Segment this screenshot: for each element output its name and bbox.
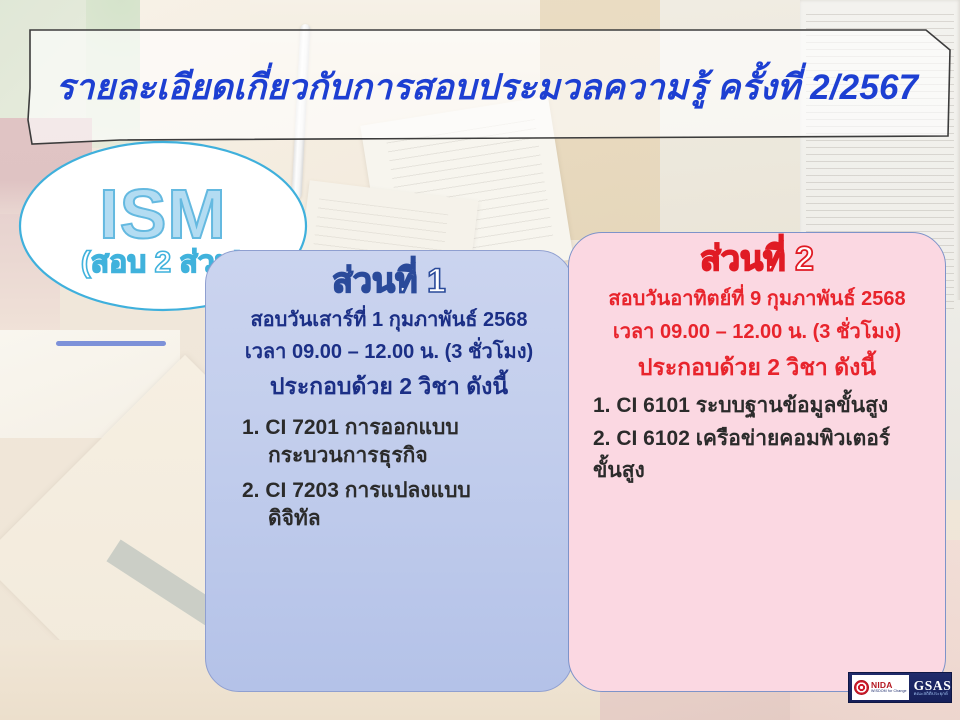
part1-course-1-name-cont: กระบวนการธุรกิจ [242,442,554,470]
nida-tagline: WISDOM for Change [871,690,907,694]
part2-heading: ส่วนที่ 2 [583,241,931,278]
list-item: 2. CI 7203 การแปลงแบบ ดิจิทัล [242,477,554,534]
list-item: ขั้นสูง [593,456,929,486]
list-item: 1. CI 7201 การออกแบบ กระบวนการธุรกิจ [242,414,554,471]
nida-seal-icon [854,680,869,695]
gsas-text-group: GSAS คณะสถิติประยุกต์ [913,679,952,697]
part2-panel: ส่วนที่ 2 สอบวันอาทิตย์ที่ 9 กุมภาพันธ์ … [568,232,946,692]
part1-course-2-name-cont: ดิจิทัล [242,505,554,533]
part2-subjects-note: ประกอบด้วย 2 วิชา ดังนี้ [583,354,931,380]
gsas-tagline: คณะสถิติประยุกต์ [914,692,952,696]
nida-gsas-logo: NIDA WISDOM for Change GSAS คณะสถิติประย… [848,672,952,703]
part1-heading: ส่วนที่ 1 [220,263,558,300]
nida-logo-block: NIDA WISDOM for Change [852,675,909,700]
gsas-name: GSAS [914,679,952,693]
part2-date: สอบวันอาทิตย์ที่ 9 กุมภาพันธ์ 2568 [583,288,931,311]
part1-time: เวลา 09.00 – 12.00 น. (3 ชั่วโมง) [220,341,558,364]
part2-course-list: 1. CI 6101 ระบบฐานข้อมูลขั้นสูง 2. CI 61… [583,391,931,486]
part1-panel: ส่วนที่ 1 สอบวันเสาร์ที่ 1 กุมภาพันธ์ 25… [205,250,573,692]
part1-subjects-note: ประกอบด้วย 2 วิชา ดังนี้ [220,373,558,399]
nida-text-group: NIDA WISDOM for Change [871,681,907,693]
part1-course-2-code: CI 7203 [265,479,339,502]
page-title: รายละเอียดเกี่ยวกับการสอบประมวลความรู้ ค… [8,28,952,146]
title-banner: รายละเอียดเกี่ยวกับการสอบประมวลความรู้ ค… [8,28,952,146]
part1-course-2-name: การแปลงแบบ [345,479,471,502]
list-item: 2. CI 6102 เครือข่ายคอมพิวเตอร์ [593,424,929,454]
part2-time: เวลา 09.00 – 12.00 น. (3 ชั่วโมง) [583,321,931,344]
part1-course-2-number: 2. [242,479,260,502]
part1-course-1-number: 1. [242,416,260,439]
list-item: 1. CI 6101 ระบบฐานข้อมูลขั้นสูง [593,391,929,421]
blue-rule-decoration [56,341,166,346]
part1-date: สอบวันเสาร์ที่ 1 กุมภาพันธ์ 2568 [220,309,558,332]
part1-course-1-code: CI 7201 [265,416,339,439]
part1-course-list: 1. CI 7201 การออกแบบ กระบวนการธุรกิจ 2. … [220,414,558,533]
ism-acronym: ISM [99,182,226,246]
slide-canvas: รายละเอียดเกี่ยวกับการสอบประมวลความรู้ ค… [0,0,960,720]
part1-course-1-name: การออกแบบ [345,416,459,439]
